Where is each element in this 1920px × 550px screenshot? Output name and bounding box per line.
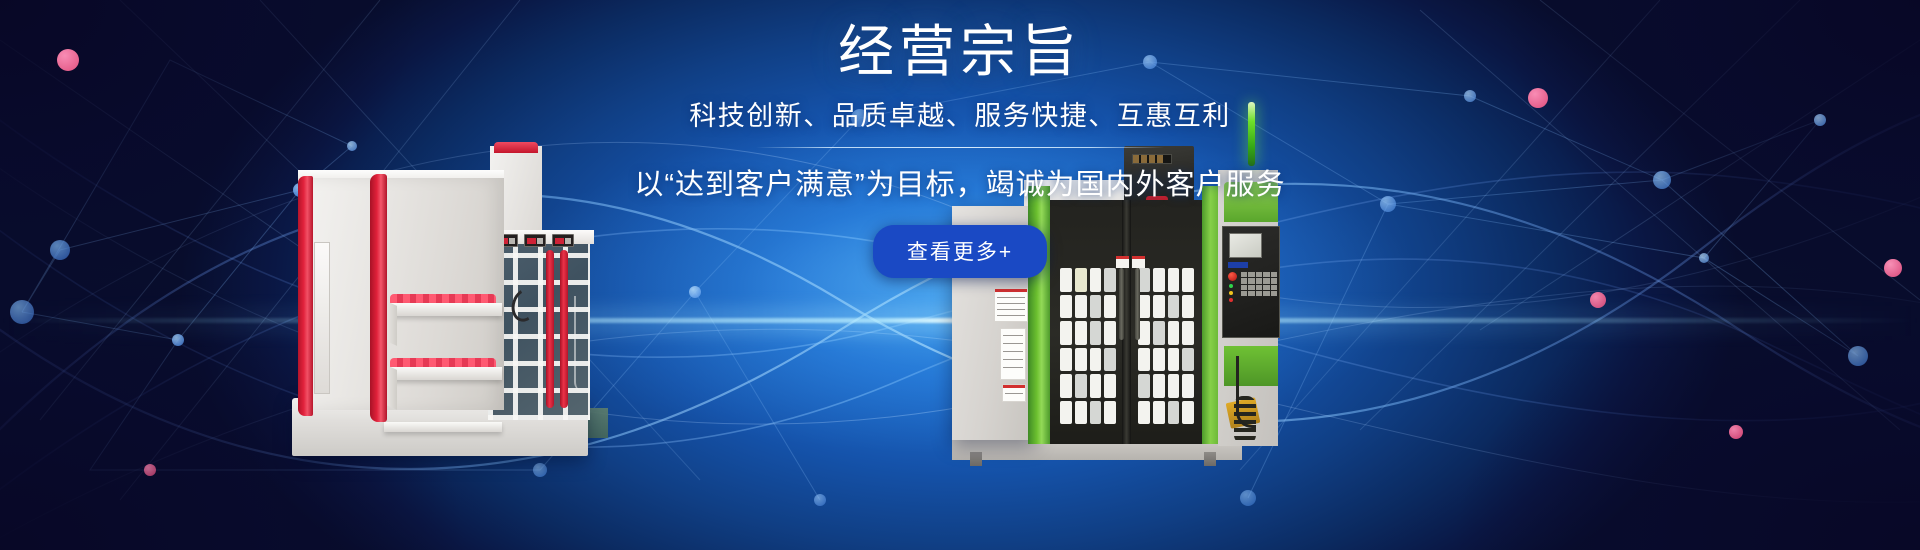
- text-divider: [756, 147, 1164, 148]
- banner-subtitle: 科技创新、品质卓越、服务快捷、互惠互利: [0, 94, 1920, 133]
- node-dot: [1240, 490, 1256, 506]
- banner-tagline: 以“达到客户满意”为目标，竭诚为国内外客户服务: [0, 161, 1920, 203]
- promo-banner: 经营宗旨 科技创新、品质卓越、服务快捷、互惠互利 以“达到客户满意”为目标，竭诚…: [0, 0, 1920, 550]
- node-dot: [1848, 346, 1868, 366]
- pink-dot: [1729, 425, 1743, 439]
- node-dot: [533, 463, 547, 477]
- node-dot: [689, 286, 701, 298]
- view-more-button[interactable]: 查看更多+: [873, 225, 1047, 278]
- page-title: 经营宗旨: [0, 22, 1920, 82]
- banner-text-block: 经营宗旨 科技创新、品质卓越、服务快捷、互惠互利 以“达到客户满意”为目标，竭诚…: [0, 22, 1920, 278]
- node-dot: [814, 494, 826, 506]
- pink-dot: [144, 464, 156, 476]
